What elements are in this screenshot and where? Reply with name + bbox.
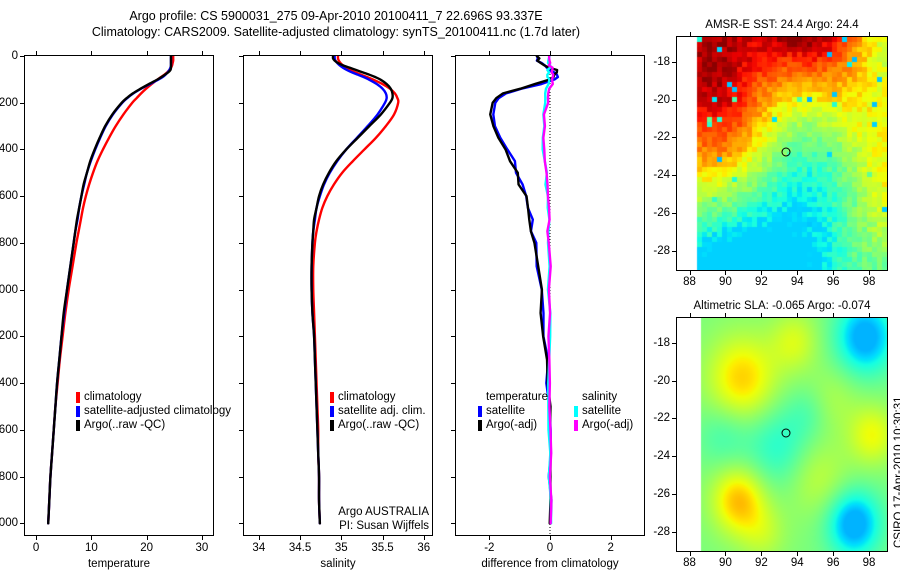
legend-swatch-climatology <box>76 392 80 403</box>
legend-label: satellite <box>486 404 525 418</box>
legend-label: satellite <box>582 404 621 418</box>
y-tick-mark <box>672 343 677 344</box>
x-tick-mark <box>833 270 834 275</box>
x-tick-mark <box>259 535 260 540</box>
title-line-1: Argo profile: CS 5900031_275 09-Apr-2010… <box>0 8 672 24</box>
x-tick-mark-top <box>833 32 834 37</box>
x-tick-mark-top <box>797 313 798 318</box>
x-tick-mark <box>550 535 551 540</box>
y-tick-label: -20 <box>636 94 670 106</box>
x-tick-label: 20 <box>140 542 153 554</box>
y-tick-label: 1000 <box>0 284 18 296</box>
y-tick-mark <box>20 477 25 478</box>
x-tick-mark-top <box>833 313 834 318</box>
temperature-xlabel: temperature <box>24 558 214 570</box>
y-tick-mark <box>239 103 244 104</box>
y-tick-mark <box>672 62 677 63</box>
x-tick-mark <box>797 551 798 556</box>
x-tick-mark <box>489 535 490 540</box>
y-tick-mark <box>451 196 456 197</box>
y-tick-mark <box>451 383 456 384</box>
x-tick-label: 96 <box>827 276 840 288</box>
y-tick-label: 1600 <box>0 424 18 436</box>
x-tick-mark <box>383 535 384 540</box>
legend-swatch-climatology <box>330 392 334 403</box>
temperature-profile-panel <box>24 55 214 536</box>
x-tick-mark <box>761 270 762 275</box>
legend-item: satellite adj. clim. <box>330 404 426 418</box>
x-tick-mark-top <box>869 313 870 318</box>
legend-item: satellite <box>574 404 633 418</box>
x-tick-mark <box>797 270 798 275</box>
y-tick-mark <box>451 430 456 431</box>
x-tick-mark-top <box>341 51 342 56</box>
salinity-profile-plot <box>244 56 432 535</box>
x-tick-label: 35 <box>335 542 348 554</box>
y-tick-label: 1400 <box>0 377 18 389</box>
y-tick-mark <box>451 56 456 57</box>
x-tick-label: 34 <box>252 542 265 554</box>
y-tick-mark <box>20 383 25 384</box>
y-tick-label: 600 <box>0 190 18 202</box>
title-line-2: Climatology: CARS2009. Satellite-adjuste… <box>0 24 672 40</box>
x-tick-mark-top <box>690 32 691 37</box>
x-tick-label: 92 <box>755 557 768 569</box>
x-tick-mark-top <box>259 51 260 56</box>
y-tick-mark <box>672 456 677 457</box>
x-tick-mark-top <box>797 32 798 37</box>
x-tick-mark-top <box>725 313 726 318</box>
x-tick-mark <box>725 551 726 556</box>
legend-header: salinity <box>574 390 633 404</box>
y-tick-label: 1800 <box>0 471 18 483</box>
difference-legend: temperature satellite Argo(-adj) salinit… <box>478 390 633 432</box>
y-tick-label: -20 <box>636 375 670 387</box>
x-tick-mark <box>91 535 92 540</box>
legend-swatch-satellite <box>478 406 482 417</box>
y-tick-mark <box>451 103 456 104</box>
legend-item: climatology <box>76 390 231 404</box>
y-tick-mark <box>239 56 244 57</box>
y-tick-label: -22 <box>636 412 670 424</box>
sla-map-title: Altimetric SLA: -0.065 Argo: -0.074 <box>664 300 900 312</box>
y-tick-mark <box>451 523 456 524</box>
x-tick-label: 90 <box>719 276 732 288</box>
difference-profile-plot <box>456 56 644 535</box>
salinity-profile-panel <box>243 55 433 536</box>
legend-item: Argo(..raw -QC) <box>330 418 426 432</box>
legend-label: satellite-adjusted climatology <box>84 404 231 418</box>
x-tick-mark-top <box>36 51 37 56</box>
y-tick-label: 1200 <box>0 330 18 342</box>
x-tick-mark-top <box>761 313 762 318</box>
y-tick-mark <box>20 430 25 431</box>
y-tick-label: 0 <box>0 50 18 62</box>
x-tick-mark <box>341 535 342 540</box>
credit-line-1: Argo AUSTRALIA <box>283 505 429 519</box>
credit-line-2: PI: Susan Wijffels <box>283 519 429 533</box>
x-tick-label: -2 <box>484 542 494 554</box>
x-tick-mark <box>869 270 870 275</box>
legend-label: satellite adj. clim. <box>338 404 426 418</box>
y-tick-mark <box>239 196 244 197</box>
x-tick-label: 92 <box>755 276 768 288</box>
x-tick-label: 96 <box>827 557 840 569</box>
y-tick-mark <box>20 149 25 150</box>
x-tick-label: 10 <box>85 542 98 554</box>
legend-swatch-satellite <box>76 406 80 417</box>
x-tick-label: 30 <box>196 542 209 554</box>
argo-position-marker <box>782 428 791 437</box>
legend-label: Argo(..raw -QC) <box>338 418 419 432</box>
sst-map-title: AMSR-E SST: 24.4 Argo: 24.4 <box>676 19 888 31</box>
x-tick-label: 94 <box>791 276 804 288</box>
csiro-timestamp: CSIRO 17-Apr-2010 10:30:31 <box>893 396 900 548</box>
x-tick-mark <box>611 535 612 540</box>
x-tick-label: 90 <box>719 557 732 569</box>
x-tick-mark-top <box>489 51 490 56</box>
legend-swatch-argo <box>76 420 80 431</box>
y-tick-label: -24 <box>636 169 670 181</box>
y-tick-mark <box>672 100 677 101</box>
y-tick-mark <box>672 175 677 176</box>
legend-swatch-argo <box>330 420 334 431</box>
argo-profile-figure: Argo profile: CS 5900031_275 09-Apr-2010… <box>0 0 900 580</box>
x-tick-label: 98 <box>863 557 876 569</box>
y-tick-mark <box>239 290 244 291</box>
y-tick-mark <box>20 290 25 291</box>
y-tick-mark <box>451 336 456 337</box>
legend-header: temperature <box>478 390 548 404</box>
y-tick-label: -24 <box>636 450 670 462</box>
sst-map-panel <box>676 36 888 271</box>
legend-item: Argo(..raw -QC) <box>76 418 231 432</box>
sla-map-panel <box>676 317 888 552</box>
x-tick-mark-top <box>690 313 691 318</box>
difference-legend-temperature: temperature satellite Argo(-adj) <box>478 390 548 432</box>
x-tick-label: 0 <box>547 542 553 554</box>
difference-legend-salinity: salinity satellite Argo(-adj) <box>574 390 633 432</box>
y-tick-mark <box>239 430 244 431</box>
y-tick-label: -18 <box>636 337 670 349</box>
legend-swatch-satellite <box>330 406 334 417</box>
x-tick-mark <box>690 270 691 275</box>
y-tick-mark <box>672 213 677 214</box>
legend-item: Argo(-adj) <box>574 418 633 432</box>
difference-xlabel: difference from climatology <box>455 558 645 570</box>
legend-swatch-argo <box>478 420 482 431</box>
y-tick-mark <box>20 523 25 524</box>
x-tick-mark <box>424 535 425 540</box>
legend-label: Argo(-adj) <box>486 418 537 432</box>
y-tick-label: -28 <box>636 245 670 257</box>
temperature-profile-plot <box>25 56 213 535</box>
y-tick-mark <box>239 383 244 384</box>
x-tick-label: 2 <box>607 542 613 554</box>
y-tick-mark <box>672 418 677 419</box>
y-tick-mark <box>672 532 677 533</box>
figure-title: Argo profile: CS 5900031_275 09-Apr-2010… <box>0 8 672 40</box>
y-tick-mark <box>672 494 677 495</box>
argo-credit: Argo AUSTRALIA PI: Susan Wijffels <box>283 505 429 533</box>
y-tick-label: -28 <box>636 526 670 538</box>
salinity-xlabel: salinity <box>243 558 433 570</box>
y-tick-mark <box>672 137 677 138</box>
legend-item: Argo(-adj) <box>478 418 548 432</box>
legend-swatch-salinity-satellite <box>574 406 578 417</box>
x-tick-mark <box>690 551 691 556</box>
legend-item: satellite <box>478 404 548 418</box>
x-tick-mark-top <box>424 51 425 56</box>
y-tick-label: 800 <box>0 237 18 249</box>
legend-item: climatology <box>330 390 426 404</box>
y-tick-label: 2000 <box>0 517 18 529</box>
x-tick-mark-top <box>300 51 301 56</box>
y-tick-mark <box>20 336 25 337</box>
legend-swatch-salinity-argo <box>574 420 578 431</box>
x-tick-label: 36 <box>417 542 430 554</box>
x-tick-mark-top <box>91 51 92 56</box>
y-tick-mark <box>239 243 244 244</box>
x-tick-mark <box>725 270 726 275</box>
x-tick-label: 88 <box>683 557 696 569</box>
y-tick-mark <box>239 336 244 337</box>
legend-label: Argo(-adj) <box>582 418 633 432</box>
y-tick-mark <box>239 149 244 150</box>
y-tick-mark <box>672 381 677 382</box>
temperature-legend: climatology satellite-adjusted climatolo… <box>76 390 231 432</box>
y-tick-label: 400 <box>0 143 18 155</box>
x-tick-mark <box>761 551 762 556</box>
x-tick-mark <box>36 535 37 540</box>
legend-label: Argo(..raw -QC) <box>84 418 165 432</box>
legend-item: satellite-adjusted climatology <box>76 404 231 418</box>
y-tick-mark <box>451 243 456 244</box>
y-tick-label: -26 <box>636 488 670 500</box>
x-tick-label: 35.5 <box>371 542 393 554</box>
x-tick-mark <box>833 551 834 556</box>
salinity-legend: climatology satellite adj. clim. Argo(..… <box>330 390 426 432</box>
x-tick-mark-top <box>611 51 612 56</box>
x-tick-mark-top <box>725 32 726 37</box>
y-tick-mark <box>20 243 25 244</box>
legend-label: climatology <box>338 390 396 404</box>
x-tick-label: 94 <box>791 557 804 569</box>
x-tick-mark-top <box>383 51 384 56</box>
y-tick-mark <box>672 251 677 252</box>
y-tick-mark <box>20 56 25 57</box>
difference-profile-panel <box>455 55 645 536</box>
argo-position-marker <box>782 147 791 156</box>
x-tick-mark <box>300 535 301 540</box>
x-tick-mark <box>202 535 203 540</box>
y-tick-mark <box>239 523 244 524</box>
x-tick-mark-top <box>202 51 203 56</box>
x-tick-mark <box>869 551 870 556</box>
y-tick-mark <box>451 290 456 291</box>
y-tick-label: 200 <box>0 97 18 109</box>
y-tick-mark <box>451 477 456 478</box>
x-tick-mark-top <box>147 51 148 56</box>
y-tick-label: -18 <box>636 56 670 68</box>
x-tick-mark <box>147 535 148 540</box>
y-tick-label: -26 <box>636 207 670 219</box>
y-tick-mark <box>239 477 244 478</box>
x-tick-mark-top <box>550 51 551 56</box>
y-tick-mark <box>20 196 25 197</box>
x-tick-label: 98 <box>863 276 876 288</box>
y-tick-mark <box>451 149 456 150</box>
x-tick-mark-top <box>761 32 762 37</box>
x-tick-label: 0 <box>33 542 39 554</box>
x-tick-label: 88 <box>683 276 696 288</box>
y-tick-label: -22 <box>636 131 670 143</box>
x-tick-label: 34.5 <box>289 542 311 554</box>
legend-label: climatology <box>84 390 142 404</box>
y-tick-mark <box>20 103 25 104</box>
x-tick-mark-top <box>869 32 870 37</box>
